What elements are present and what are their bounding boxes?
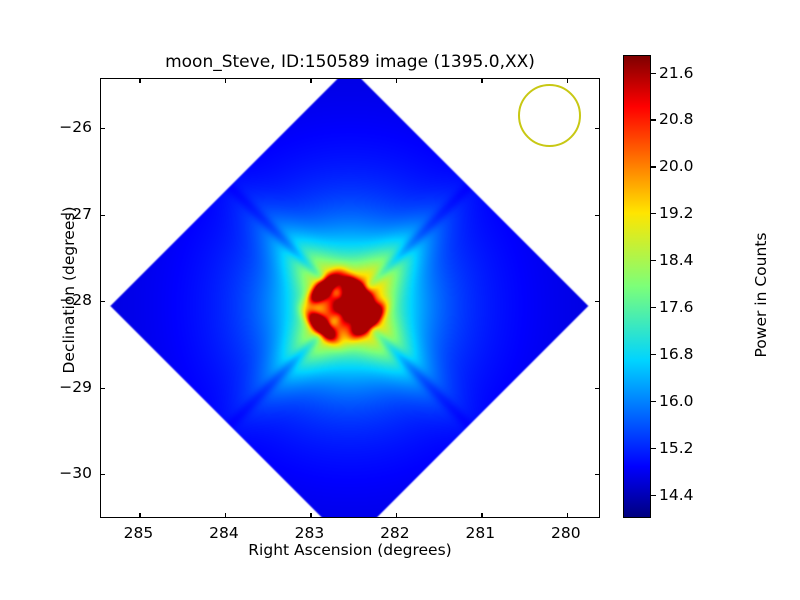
x-tick-label: 280 <box>551 524 581 542</box>
colorbar-gradient <box>624 56 650 517</box>
x-tick-label: 285 <box>124 524 154 542</box>
colorbar-label: Power in Counts <box>752 165 770 425</box>
y-tick <box>100 388 105 389</box>
colorbar-tick <box>651 166 656 167</box>
colorbar[interactable] <box>623 55 651 518</box>
colorbar-tick-label: 20.0 <box>659 157 694 175</box>
colorbar-tick-label: 20.8 <box>659 110 694 128</box>
page-title: moon_Steve, ID:150589 image (1395.0,XX) <box>100 52 600 72</box>
x-tick <box>567 513 568 518</box>
x-tick-top <box>139 78 140 83</box>
colorbar-tick-label: 16.0 <box>659 392 694 410</box>
x-tick-label: 284 <box>209 524 239 542</box>
beam-circle-annotation <box>518 84 581 147</box>
y-tick-right <box>595 215 600 216</box>
colorbar-tick <box>651 119 656 120</box>
x-axis-label: Right Ascension (degrees) <box>100 541 600 559</box>
x-tick-top <box>481 78 482 83</box>
y-tick-right <box>595 128 600 129</box>
colorbar-tick-label: 14.4 <box>659 486 694 504</box>
x-tick-top <box>396 78 397 83</box>
y-tick-right <box>595 388 600 389</box>
y-tick <box>100 128 105 129</box>
x-tick-top <box>567 78 568 83</box>
colorbar-tick <box>651 354 656 355</box>
colorbar-tick <box>651 448 656 449</box>
colorbar-tick-label: 21.6 <box>659 64 694 82</box>
y-tick-right <box>595 474 600 475</box>
y-tick-label: −26 <box>34 118 92 136</box>
figure-canvas: moon_Steve, ID:150589 image (1395.0,XX) … <box>0 0 800 600</box>
y-tick-right <box>595 301 600 302</box>
x-tick-label: 282 <box>380 524 410 542</box>
x-tick-label: 283 <box>295 524 325 542</box>
x-tick <box>310 513 311 518</box>
colorbar-tick-label: 19.2 <box>659 204 694 222</box>
x-tick-label: 281 <box>466 524 496 542</box>
colorbar-tick <box>651 73 656 74</box>
colorbar-tick-label: 16.8 <box>659 345 694 363</box>
x-tick <box>225 513 226 518</box>
colorbar-tick <box>651 260 656 261</box>
image-axes[interactable] <box>100 78 600 518</box>
colorbar-tick <box>651 401 656 402</box>
y-tick <box>100 215 105 216</box>
y-axis-label: Declination (degrees) <box>60 160 78 420</box>
x-tick <box>396 513 397 518</box>
colorbar-tick-label: 15.2 <box>659 439 694 457</box>
x-tick <box>481 513 482 518</box>
y-tick <box>100 474 105 475</box>
x-tick-top <box>225 78 226 83</box>
sky-image-heatmap <box>101 79 600 518</box>
colorbar-tick-label: 18.4 <box>659 251 694 269</box>
y-tick <box>100 301 105 302</box>
y-tick-label: −30 <box>34 464 92 482</box>
colorbar-tick <box>651 213 656 214</box>
x-tick-top <box>310 78 311 83</box>
colorbar-tick <box>651 495 656 496</box>
x-tick <box>139 513 140 518</box>
colorbar-tick-label: 17.6 <box>659 298 694 316</box>
colorbar-tick <box>651 307 656 308</box>
